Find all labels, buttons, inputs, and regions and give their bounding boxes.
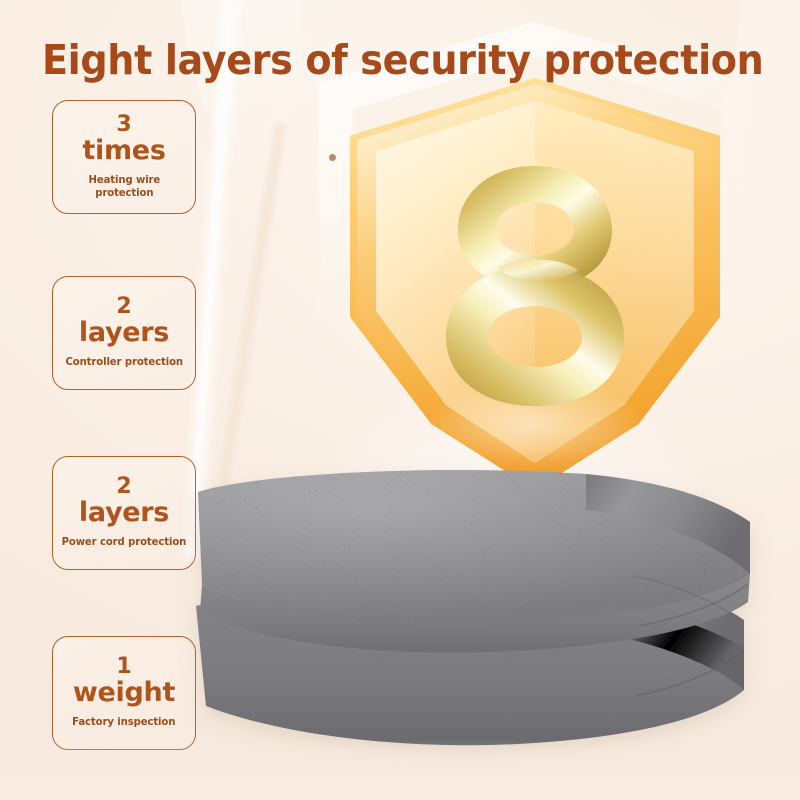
spec-card-number: 1 [73, 656, 175, 679]
spec-card-number: 2 [79, 296, 169, 319]
spec-card-description: Factory inspection [72, 716, 175, 729]
spec-card-controller-protection[interactable]: 2 layers Controller protection [52, 276, 196, 390]
spec-card-unit: layers [79, 319, 169, 347]
spec-card-amount: 2 layers [79, 296, 169, 347]
spec-card-heating-wire-protection[interactable]: 3 times Heating wire protection [52, 100, 196, 214]
decorative-dot-icon-1 [329, 154, 336, 161]
spec-card-unit: layers [79, 499, 169, 527]
spec-card-amount: 2 layers [79, 476, 169, 527]
spec-card-amount: 1 weight [73, 656, 175, 707]
spec-card-description: Power cord protection [62, 536, 187, 549]
spec-card-power-cord-protection[interactable]: 2 layers Power cord protection [52, 456, 196, 570]
product-infographic-poster: Eight layers of security protection [0, 0, 800, 800]
spec-card-unit: weight [73, 679, 175, 707]
spec-card-description: Heating wire protection [88, 174, 160, 200]
product-image-folded-blanket [188, 424, 794, 774]
shield-number-eight-icon [440, 160, 630, 410]
spec-card-amount: 3 times [82, 114, 165, 165]
spec-card-number: 2 [79, 476, 169, 499]
spec-card-factory-inspection[interactable]: 1 weight Factory inspection [52, 636, 196, 750]
page-title: Eight layers of security protection [42, 40, 721, 81]
spec-card-number: 3 [82, 114, 165, 137]
spec-card-description: Controller protection [65, 356, 183, 369]
spec-card-unit: times [82, 137, 165, 165]
